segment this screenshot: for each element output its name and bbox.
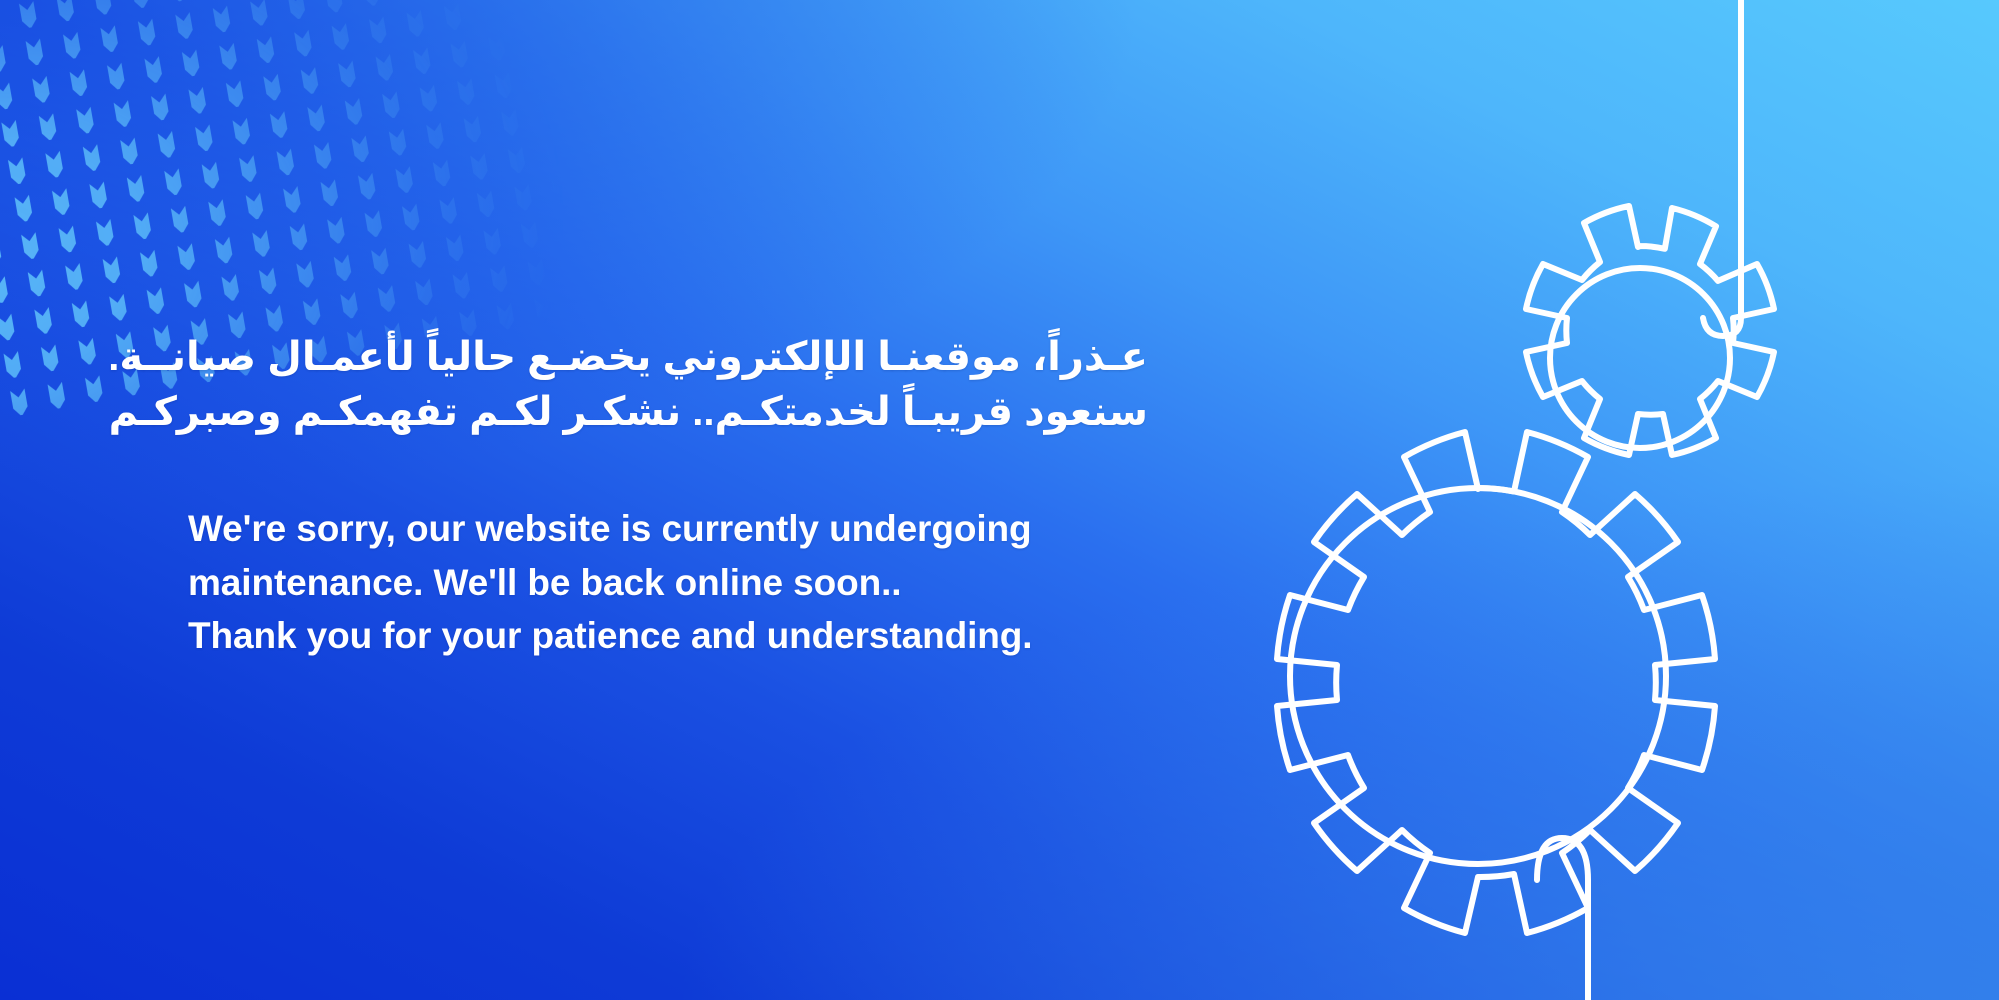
small-gear-inner-circle	[1550, 268, 1730, 448]
english-message: We're sorry, our website is currently un…	[188, 502, 1148, 662]
top-connector-line	[1703, 0, 1741, 336]
arabic-message-line-1: عـذراً، موقعنـا الإلكتروني يخضـع حالياً …	[188, 330, 1148, 385]
arabic-message-line-2: سنعود قريبـاً لخدمتكـم.. نشكـر لكـم تفهم…	[188, 385, 1148, 440]
large-gear-outline	[1277, 432, 1715, 933]
bottom-connector-line	[1537, 838, 1588, 1000]
small-gear-outline	[1526, 206, 1774, 455]
gear-illustration	[1179, 0, 1999, 1000]
english-message-line-2: maintenance. We'll be back online soon..	[188, 556, 1148, 609]
message-block: عـذراً، موقعنـا الإلكتروني يخضـع حالياً …	[188, 330, 1148, 662]
maintenance-page: عـذراً، موقعنـا الإلكتروني يخضـع حالياً …	[0, 0, 1999, 1000]
gear-svg	[1179, 0, 1999, 1000]
english-message-line-1: We're sorry, our website is currently un…	[188, 502, 1148, 555]
english-message-line-3: Thank you for your patience and understa…	[188, 609, 1148, 662]
large-gear-inner-circle	[1290, 488, 1666, 864]
arabic-message: عـذراً، موقعنـا الإلكتروني يخضـع حالياً …	[188, 330, 1148, 440]
